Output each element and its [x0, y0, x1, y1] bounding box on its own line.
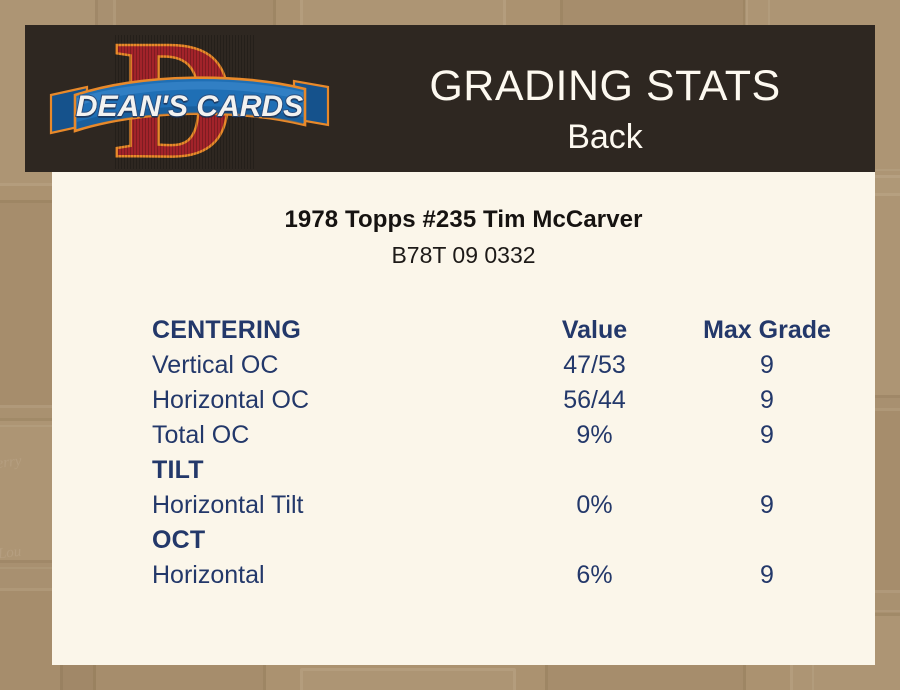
- stat-value: 9%: [507, 418, 682, 453]
- table-header-row: CENTERING Value Max Grade: [152, 313, 852, 348]
- stats-section-label: TILT: [152, 453, 507, 488]
- stat-label: Horizontal: [152, 558, 507, 593]
- stat-label: Horizontal OC: [152, 383, 507, 418]
- stat-max-grade: 9: [682, 418, 852, 453]
- table-row: Horizontal6%9: [152, 558, 852, 593]
- logo-ribbon-text: DEAN'S CARDS: [47, 76, 332, 138]
- card-serial-number: B78T 09 0332: [52, 242, 875, 269]
- deans-cards-logo[interactable]: D DEAN'S CARDS: [47, 31, 332, 171]
- table-row: Horizontal OC56/449: [152, 383, 852, 418]
- stat-value: 6%: [507, 558, 682, 593]
- column-header-max-grade: Max Grade: [682, 313, 852, 348]
- stat-label: Total OC: [152, 418, 507, 453]
- column-header-category: CENTERING: [152, 313, 507, 348]
- table-row: Vertical OC47/539: [152, 348, 852, 383]
- stats-section-spacer-value: [507, 523, 682, 558]
- stats-section-spacer-grade: [682, 523, 852, 558]
- card-title: 1978 Topps #235 Tim McCarver: [52, 206, 875, 234]
- stat-max-grade: 9: [682, 488, 852, 523]
- stats-section-spacer-grade: [682, 453, 852, 488]
- stat-value: 47/53: [507, 348, 682, 383]
- content-panel: 1978 Topps #235 Tim McCarver B78T 09 033…: [52, 172, 875, 665]
- stats-section-row: OCT: [152, 523, 852, 558]
- header-bar: D DEAN'S CARDS GRADING: [25, 25, 875, 172]
- column-header-value: Value: [507, 313, 682, 348]
- page-title: GRADING STATS: [335, 61, 875, 111]
- stat-value: 56/44: [507, 383, 682, 418]
- grading-stats-table: CENTERING Value Max Grade Vertical OC47/…: [152, 313, 852, 593]
- stat-max-grade: 9: [682, 348, 852, 383]
- stat-label: Vertical OC: [152, 348, 507, 383]
- stats-table-head: CENTERING Value Max Grade: [152, 313, 852, 348]
- table-row: Total OC9%9: [152, 418, 852, 453]
- stats-section-label: OCT: [152, 523, 507, 558]
- stat-max-grade: 9: [682, 383, 852, 418]
- stat-label: Horizontal Tilt: [152, 488, 507, 523]
- stats-section-spacer-value: [507, 453, 682, 488]
- page-subtitle: Back: [335, 117, 875, 157]
- table-row: Horizontal Tilt0%9: [152, 488, 852, 523]
- stats-section-row: TILT: [152, 453, 852, 488]
- stat-value: 0%: [507, 488, 682, 523]
- page-root: Jerry Lou D: [0, 0, 900, 690]
- stat-max-grade: 9: [682, 558, 852, 593]
- logo-ribbon-banner: DEAN'S CARDS: [47, 75, 332, 137]
- stats-table-body: Vertical OC47/539Horizontal OC56/449Tota…: [152, 348, 852, 593]
